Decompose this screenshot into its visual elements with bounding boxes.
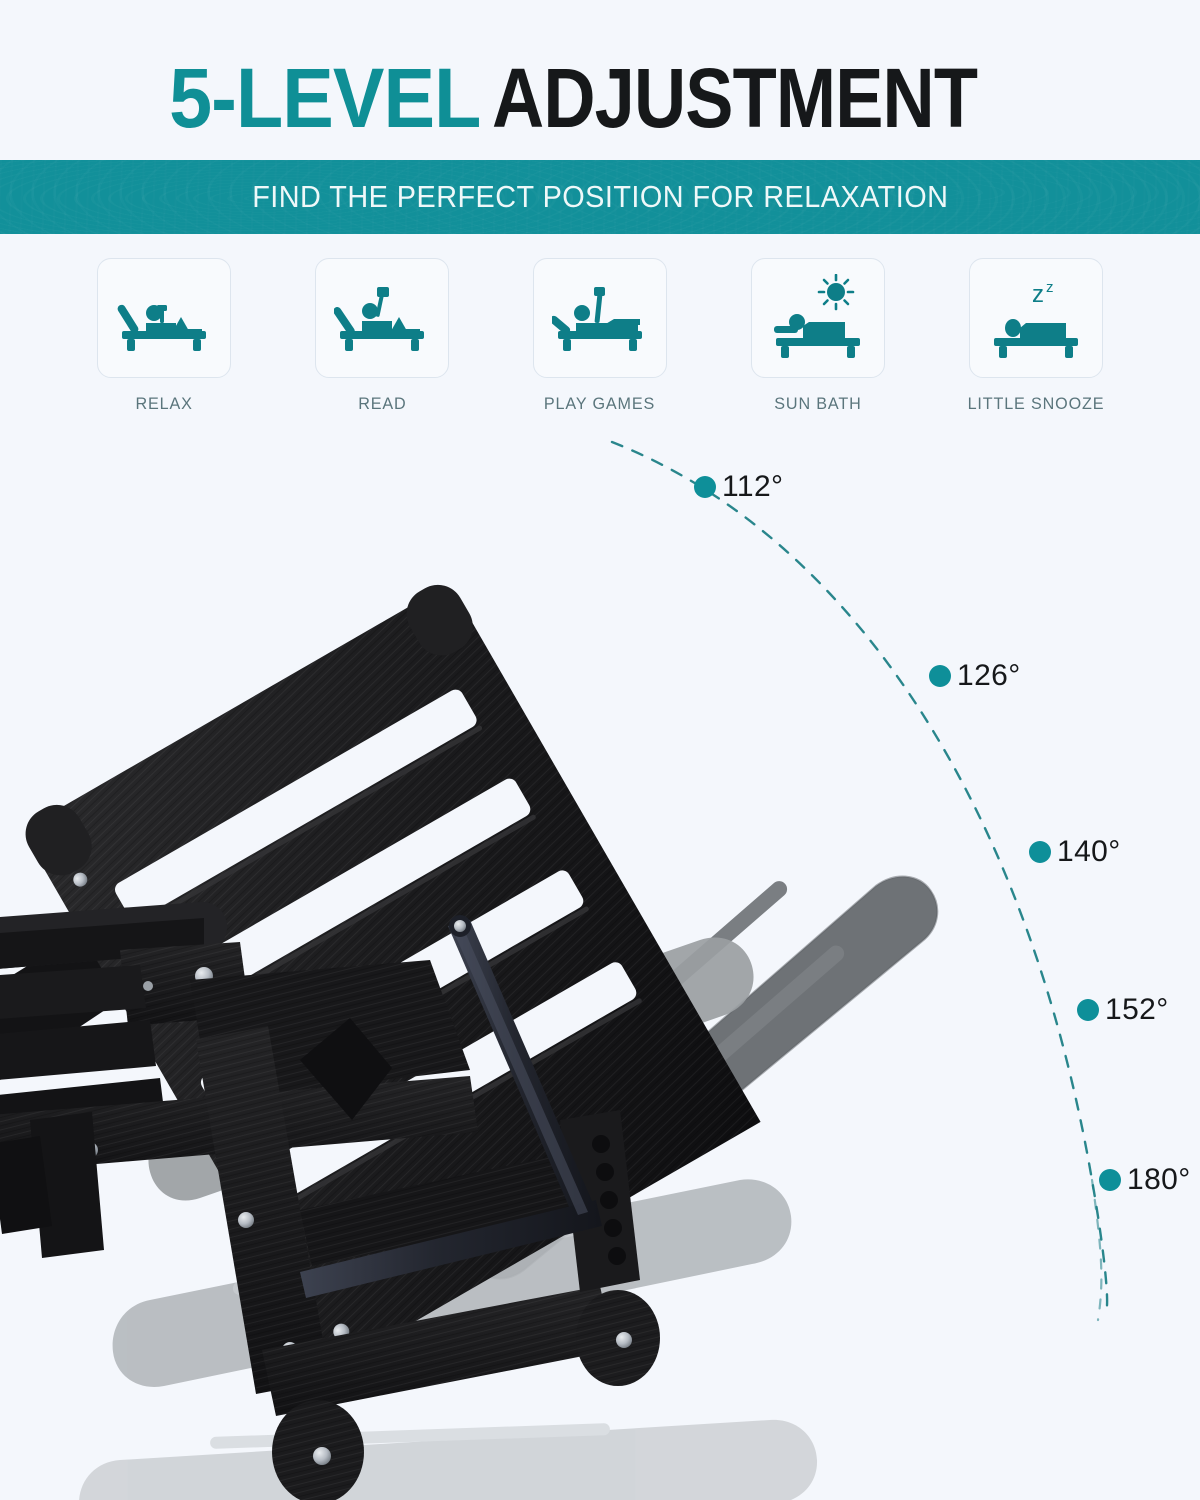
mode-icon-row: RELAX bbox=[0, 258, 1200, 418]
mode-label: LITTLE SNOOZE bbox=[968, 394, 1105, 414]
wheel-rear bbox=[576, 1290, 660, 1386]
angle-label-126: 126° bbox=[957, 659, 1021, 693]
mode-item-play-games[interactable]: PLAY GAMES bbox=[525, 258, 675, 414]
mode-label: PLAY GAMES bbox=[544, 394, 655, 414]
angle-label-180: 180° bbox=[1127, 1163, 1191, 1197]
mode-item-sun-bath[interactable]: SUN BATH bbox=[743, 258, 893, 414]
angle-label-140: 140° bbox=[1057, 835, 1121, 869]
svg-text:z: z bbox=[1032, 281, 1044, 308]
mode-label: SUN BATH bbox=[774, 394, 861, 414]
subtitle-text: FIND THE PERFECT POSITION FOR RELAXATION bbox=[252, 179, 948, 215]
person-reclined-reading-book-on-lounger-icon bbox=[334, 283, 430, 353]
chair-illustration: 112° 126° 140° 152° 180° bbox=[0, 420, 1200, 1500]
angle-dot-152 bbox=[1077, 999, 1099, 1021]
angle-label-112: 112° bbox=[722, 470, 783, 504]
mode-item-relax[interactable]: RELAX bbox=[89, 258, 239, 414]
angle-dot-126 bbox=[929, 665, 951, 687]
ghost-backrest-180 bbox=[79, 1420, 817, 1500]
mode-icon-box bbox=[533, 258, 667, 378]
mode-label: RELAX bbox=[135, 394, 192, 414]
person-sleeping-zzz-on-lounger-icon: z z bbox=[988, 274, 1084, 362]
mode-icon-box: z z bbox=[969, 258, 1103, 378]
angle-arc-tail bbox=[1092, 1180, 1101, 1320]
mode-label: READ bbox=[358, 394, 406, 414]
mode-item-little-snooze[interactable]: z z LITTLE SNOOZE bbox=[961, 258, 1111, 414]
wheel-front bbox=[272, 1400, 364, 1500]
subtitle-band: FIND THE PERFECT POSITION FOR RELAXATION bbox=[0, 160, 1200, 234]
infographic-canvas: 5-LEVEL ADJUSTMENT FIND THE PERFECT POSI… bbox=[0, 0, 1200, 1500]
angle-dot-180 bbox=[1099, 1169, 1121, 1191]
angle-dot-112 bbox=[694, 476, 716, 498]
chair-main-black bbox=[0, 575, 762, 1500]
title-rest: ADJUSTMENT bbox=[480, 56, 977, 140]
person-lying-flat-with-sun-icon bbox=[770, 274, 866, 362]
page-title: 5-LEVEL ADJUSTMENT bbox=[0, 44, 1200, 152]
person-reclined-holding-phone-on-lounger-icon bbox=[552, 283, 648, 353]
mode-icon-box bbox=[315, 258, 449, 378]
person-reclined-with-drink-on-lounger-icon bbox=[116, 283, 212, 353]
mode-icon-box bbox=[751, 258, 885, 378]
angle-label-152: 152° bbox=[1105, 993, 1169, 1027]
mode-item-read[interactable]: READ bbox=[307, 258, 457, 414]
svg-text:z: z bbox=[1046, 279, 1054, 296]
title-highlight: 5-LEVEL bbox=[169, 56, 480, 140]
angle-arc-dashed bbox=[612, 442, 1107, 1311]
mode-icon-box bbox=[97, 258, 231, 378]
angle-dot-140 bbox=[1029, 841, 1051, 863]
chair-illustration-svg bbox=[0, 420, 1200, 1500]
